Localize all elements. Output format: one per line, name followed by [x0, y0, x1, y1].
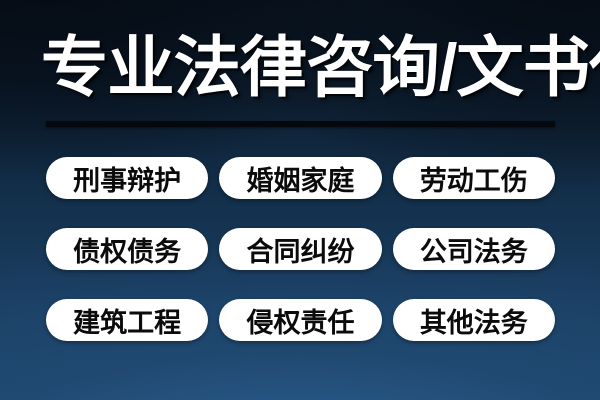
service-tag[interactable]: 侵权责任 — [219, 299, 381, 341]
service-tag[interactable]: 债权债务 — [46, 228, 208, 270]
tag-row: 建筑工程 侵权责任 其他法务 — [46, 299, 555, 341]
page-title: 专业法律咨询/文书代写 — [41, 28, 560, 106]
promo-poster: 专业法律咨询/文书代写 刑事辩护 婚姻家庭 劳动工伤 债权债务 合同纠纷 公司法… — [0, 0, 600, 400]
title-block: 专业法律咨询/文书代写 — [46, 28, 555, 127]
service-tag-grid: 刑事辩护 婚姻家庭 劳动工伤 债权债务 合同纠纷 公司法务 建筑工程 侵权责任 … — [46, 157, 555, 341]
tag-row: 刑事辩护 婚姻家庭 劳动工伤 — [46, 157, 555, 199]
service-tag[interactable]: 刑事辩护 — [46, 157, 208, 199]
service-tag[interactable]: 建筑工程 — [46, 299, 208, 341]
service-tag[interactable]: 合同纠纷 — [219, 228, 381, 270]
service-tag[interactable]: 婚姻家庭 — [219, 157, 381, 199]
tag-row: 债权债务 合同纠纷 公司法务 — [46, 228, 555, 270]
service-tag[interactable]: 劳动工伤 — [393, 157, 555, 199]
service-tag[interactable]: 其他法务 — [393, 299, 555, 341]
title-divider — [46, 121, 555, 127]
service-tag[interactable]: 公司法务 — [393, 228, 555, 270]
